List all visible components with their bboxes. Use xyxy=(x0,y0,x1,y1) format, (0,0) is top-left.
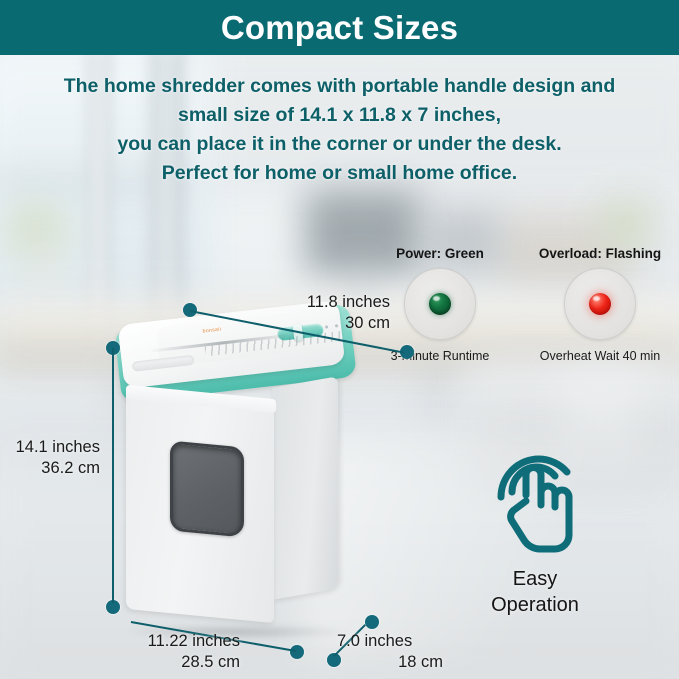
easy-operation-feature: Easy Operation xyxy=(470,445,600,618)
easy-operation-line-1: Easy xyxy=(470,566,600,592)
dim-width-top-inches: 11.8 inches xyxy=(307,293,390,311)
intro-line-2: small size of 14.1 x 11.8 x 7 inches, xyxy=(0,101,679,130)
dim-width-top-label: 11.8 inches 30 cm xyxy=(230,292,390,334)
dim-height-line xyxy=(112,348,114,603)
overload-led-red-icon xyxy=(589,293,611,315)
plant-right-blur xyxy=(596,196,658,248)
dim-width-bottom-label: 11.22 inches 28.5 cm xyxy=(110,631,240,673)
overload-indicator-group: Overload: Flashing Overheat Wait 40 min xyxy=(525,246,675,363)
tap-hand-icon xyxy=(479,445,591,557)
dim-height-cm: 36.2 cm xyxy=(0,458,100,479)
power-led-bezel xyxy=(404,268,476,340)
easy-operation-label: Easy Operation xyxy=(470,566,600,618)
brand-mark: bonsaii xyxy=(202,326,221,334)
header-banner: Compact Sizes xyxy=(0,0,679,55)
dim-depth-inches: 7.0 inches xyxy=(337,632,412,650)
led-highlight xyxy=(593,296,600,301)
dim-depth-cm: 18 cm xyxy=(337,652,443,673)
power-indicator-caption: 3-minute Runtime xyxy=(370,349,510,363)
shredder-product-image: bonsaii xyxy=(110,312,360,622)
portable-handle xyxy=(132,355,195,372)
dim-bottom-dot-right xyxy=(290,645,304,659)
power-indicator-group: Power: Green 3-minute Runtime xyxy=(370,246,510,363)
dim-width-bottom-inches: 11.22 inches xyxy=(148,632,240,650)
led-highlight xyxy=(433,296,440,301)
plant-pot-blur xyxy=(22,250,62,290)
power-led-green-icon xyxy=(429,293,451,315)
bin-side-panel xyxy=(272,376,338,600)
intro-line-4: Perfect for home or small home office. xyxy=(0,159,679,188)
overload-led-bezel xyxy=(564,268,636,340)
power-indicator-title: Power: Green xyxy=(370,246,510,261)
page-title: Compact Sizes xyxy=(221,9,458,47)
intro-line-3: you can place it in the corner or under … xyxy=(0,130,679,159)
intro-line-1: The home shredder comes with portable ha… xyxy=(0,72,679,101)
dim-depth-label: 7.0 inches 18 cm xyxy=(337,631,467,673)
overload-indicator-caption: Overheat Wait 40 min xyxy=(525,349,675,363)
dim-depth-dot-right xyxy=(365,615,379,629)
infographic-page: Compact Sizes The home shredder comes wi… xyxy=(0,0,679,679)
dim-width-top-cm: 30 cm xyxy=(230,313,390,334)
shredder-waste-bin xyxy=(126,388,340,620)
easy-operation-line-2: Operation xyxy=(470,592,600,618)
overload-indicator-title: Overload: Flashing xyxy=(525,246,675,261)
bin-viewing-window xyxy=(170,440,244,537)
dim-height-inches: 14.1 inches xyxy=(16,438,100,456)
dim-width-bottom-cm: 28.5 cm xyxy=(110,652,240,673)
dim-height-left-label: 14.1 inches 36.2 cm xyxy=(0,437,100,479)
intro-paragraph: The home shredder comes with portable ha… xyxy=(0,72,679,188)
